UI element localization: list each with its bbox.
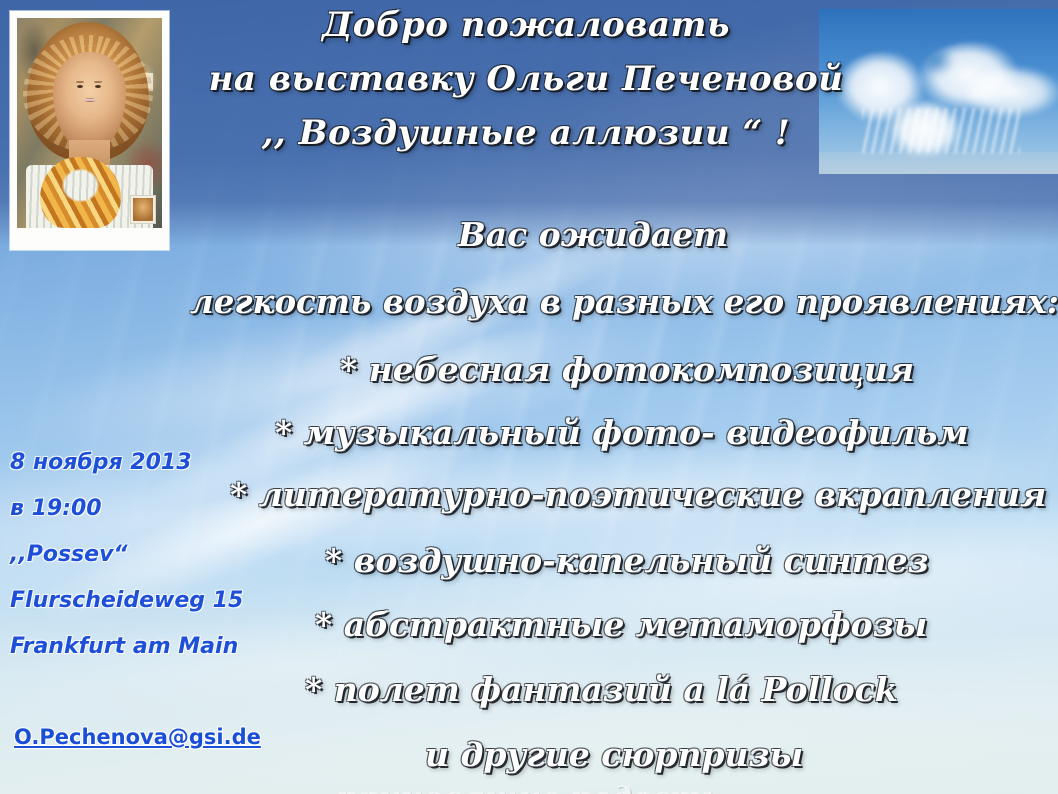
event-info-column: 8 ноября 2013 в 19:00 ,,Possev“ Flursche… [10,452,310,682]
headline-line-2: на выставку Ольги Печеновой [176,62,876,96]
cloud-wisps [862,108,1020,154]
info-time: в 19:00 [10,498,310,520]
body-line-6: * воздушно-капельный синтез [325,544,929,577]
portrait-eyebrow-right [94,81,102,82]
body-line-5: * литературно-поэтические вкрапления [230,478,1046,511]
poster-canvas: Добро пожаловать на выставку Ольги Печен… [0,0,1058,794]
body-line-1: Вас ожидает [458,218,728,251]
body-line-2: легкость воздуха в разных его проявления… [190,286,1058,318]
body-line-9: и другие сюрпризы [425,738,803,771]
portrait-eye-right [95,85,101,88]
info-street: Flurscheideweg 15 [10,590,310,612]
headline-line-3: ,, Воздушные аллюзии “ ! [176,116,876,150]
cut-off-bottom-line: приносящие радость [0,784,1058,794]
info-date: 8 ноября 2013 [10,452,310,474]
portrait-photo-frame [10,11,169,250]
info-city: Frankfurt am Main [10,636,310,658]
headline-block: Добро пожаловать на выставку Ольги Печен… [176,8,876,170]
portrait-eye-left [77,85,83,88]
portrait-yellow-scarf [40,157,121,228]
contact-email-link[interactable]: O.Pechenova@gsi.de [14,727,261,748]
body-line-4: * музыкальный фото- видеофильм [275,416,969,449]
body-line-7: * абстрактные метаморфозы [315,608,927,641]
info-venue: ,,Possev“ [10,544,310,566]
headline-line-1: Добро пожаловать [176,8,876,42]
body-line-3: * небесная фотокомпозиция [340,353,914,386]
portrait-inset-thumbnail [130,195,157,224]
portrait-eyebrow-left [76,81,84,82]
body-line-8: * полет фантазий a lá Pollock [305,673,898,706]
portrait-photo [17,18,162,228]
portrait-mouth [84,98,96,102]
